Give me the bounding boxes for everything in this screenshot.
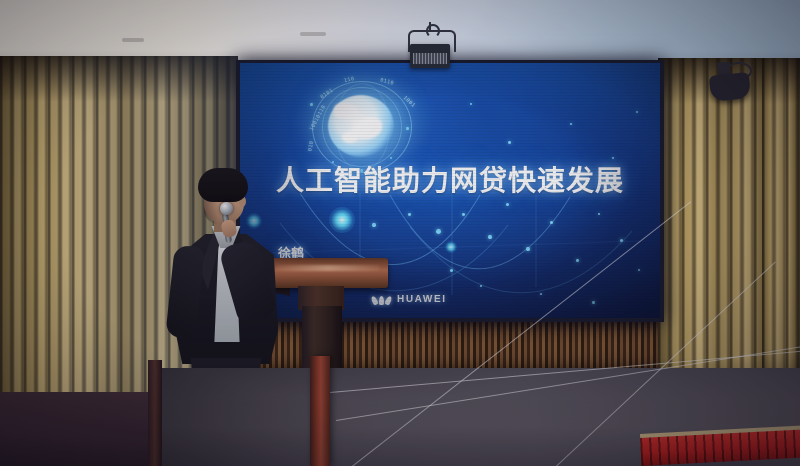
hair — [198, 168, 248, 202]
ceiling-vent-icon — [300, 32, 326, 36]
stage-light-fixture — [404, 22, 456, 72]
light-lens — [413, 53, 447, 64]
microphone-icon — [220, 202, 233, 215]
stage-pillar-secondary — [148, 360, 162, 466]
stage-pillar — [310, 356, 330, 466]
ceiling-vent-icon — [122, 38, 144, 42]
curtain-far-right — [762, 58, 800, 418]
wall-speaker — [706, 60, 752, 100]
curtain-shade — [762, 58, 800, 104]
presentation-photo-scene: 10010110 0101 110 0110 1001 010 — [0, 0, 800, 466]
